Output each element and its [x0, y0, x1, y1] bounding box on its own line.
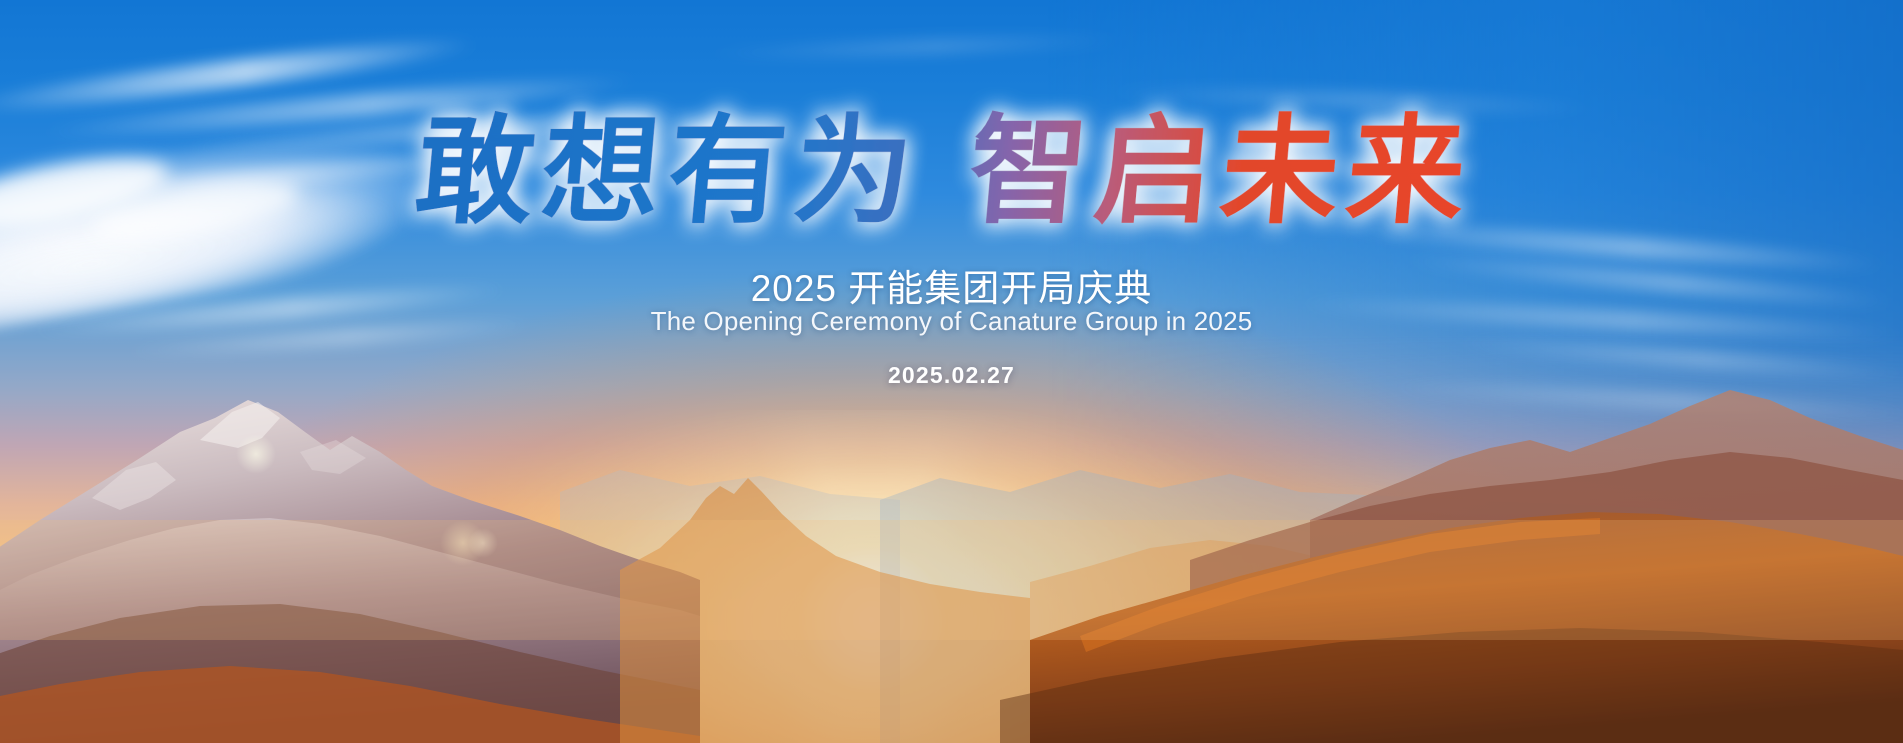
- celebration-banner: 敢想有为 智启未来 2025 开能集团开局庆典 The Opening Cere…: [0, 0, 1903, 743]
- subtitle-english: The Opening Ceremony of Canature Group i…: [0, 306, 1903, 337]
- subtitle-chinese: 2025 开能集团开局庆典: [0, 258, 1903, 312]
- event-date: 2025.02.27: [0, 362, 1903, 389]
